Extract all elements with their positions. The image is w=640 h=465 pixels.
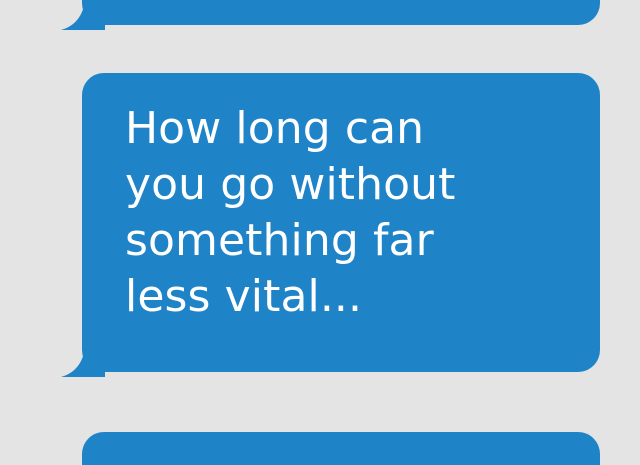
message-bubble-above[interactable]: [82, 0, 600, 25]
conversation-thread: How long can you go without something fa…: [0, 0, 640, 465]
bubble-tail-icon: [61, 0, 105, 30]
message-text: How long can you go without something fa…: [125, 101, 576, 325]
bubble-tail-icon: [61, 343, 105, 377]
message-bubble-below[interactable]: [82, 432, 600, 465]
message-bubble-main[interactable]: How long can you go without something fa…: [82, 73, 600, 372]
